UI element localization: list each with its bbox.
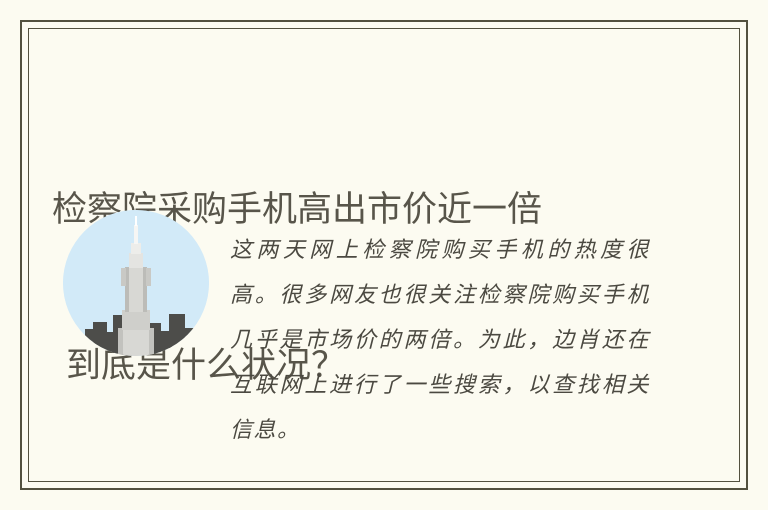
article-content: 检察院采购手机高出市价近一倍 到底是什么状况？ bbox=[28, 28, 740, 482]
empire-state-building-icon bbox=[63, 210, 209, 356]
article-thumbnail bbox=[63, 210, 209, 356]
article-card: 检察院采购手机高出市价近一倍 到底是什么状况？ bbox=[0, 0, 768, 510]
article-body-text: 这两天网上检察院购买手机的热度很高。很多网友也很关注检察院购买手机几乎是市场价的… bbox=[230, 228, 650, 453]
